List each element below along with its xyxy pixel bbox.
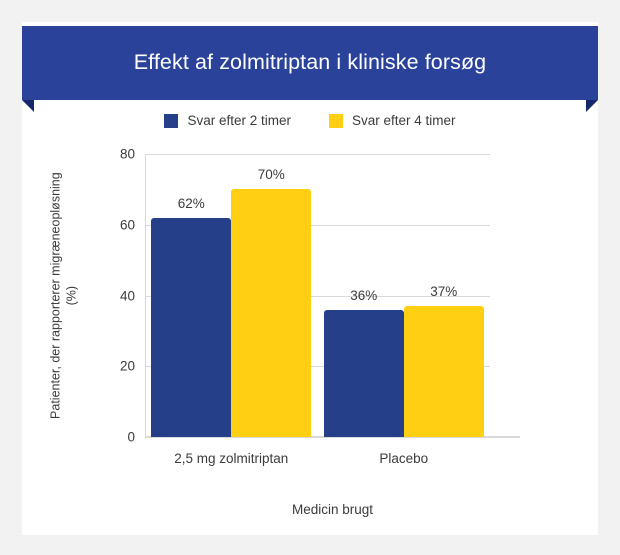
ribbon-fold-left [22,100,34,112]
legend-item-series-1[interactable]: Svar efter 2 timer [164,114,291,128]
bar[interactable] [231,189,311,437]
ribbon-fold-right [586,100,598,112]
legend-label-series-2: Svar efter 4 timer [352,114,456,128]
bar[interactable] [404,306,484,437]
bar[interactable] [324,310,404,437]
chart-title: Effekt af zolmitriptan i kliniske forsøg [134,52,487,74]
legend-swatch-icon-series-2 [329,114,343,128]
chart-page: Effekt af zolmitriptan i kliniske forsøg… [0,0,620,555]
ribbon-body: Effekt af zolmitriptan i kliniske forsøg [22,26,598,100]
x-axis-tick-label: Placebo [379,451,428,466]
y-axis-title-line-2: (%) [64,146,80,446]
chart-area: Patienter, der rapporterer migræneopløsn… [22,140,598,535]
bar-value-label: 62% [178,196,205,211]
legend-item-series-2[interactable]: Svar efter 4 timer [329,114,456,128]
y-axis-tick-label: 80 [120,147,135,162]
y-axis-tick-label: 60 [120,217,135,232]
x-axis-tick-label: 2,5 mg zolmitriptan [174,451,288,466]
y-axis-tick-label: 40 [120,288,135,303]
bar-value-label: 70% [258,167,285,182]
y-axis-tick-label: 20 [120,359,135,374]
plot-area: 02040608062%70%2,5 mg zolmitriptan36%37%… [145,154,490,437]
bar[interactable] [151,218,231,437]
legend-swatch-icon-series-1 [164,114,178,128]
legend-label-series-1: Svar efter 2 timer [187,114,291,128]
bar-value-label: 37% [430,284,457,299]
gridline [145,154,490,155]
y-axis-title-line-1: Patienter, der rapporterer migræneopløsn… [48,146,64,446]
y-axis-title: Patienter, der rapporterer migræneopløsn… [48,146,79,446]
y-axis-tick-label: 0 [127,430,135,445]
chart-legend: Svar efter 2 timer Svar efter 4 timer [22,114,598,128]
title-banner: Effekt af zolmitriptan i kliniske forsøg [0,26,620,110]
x-axis-title: Medicin brugt [145,502,520,517]
bar-value-label: 36% [350,288,377,303]
